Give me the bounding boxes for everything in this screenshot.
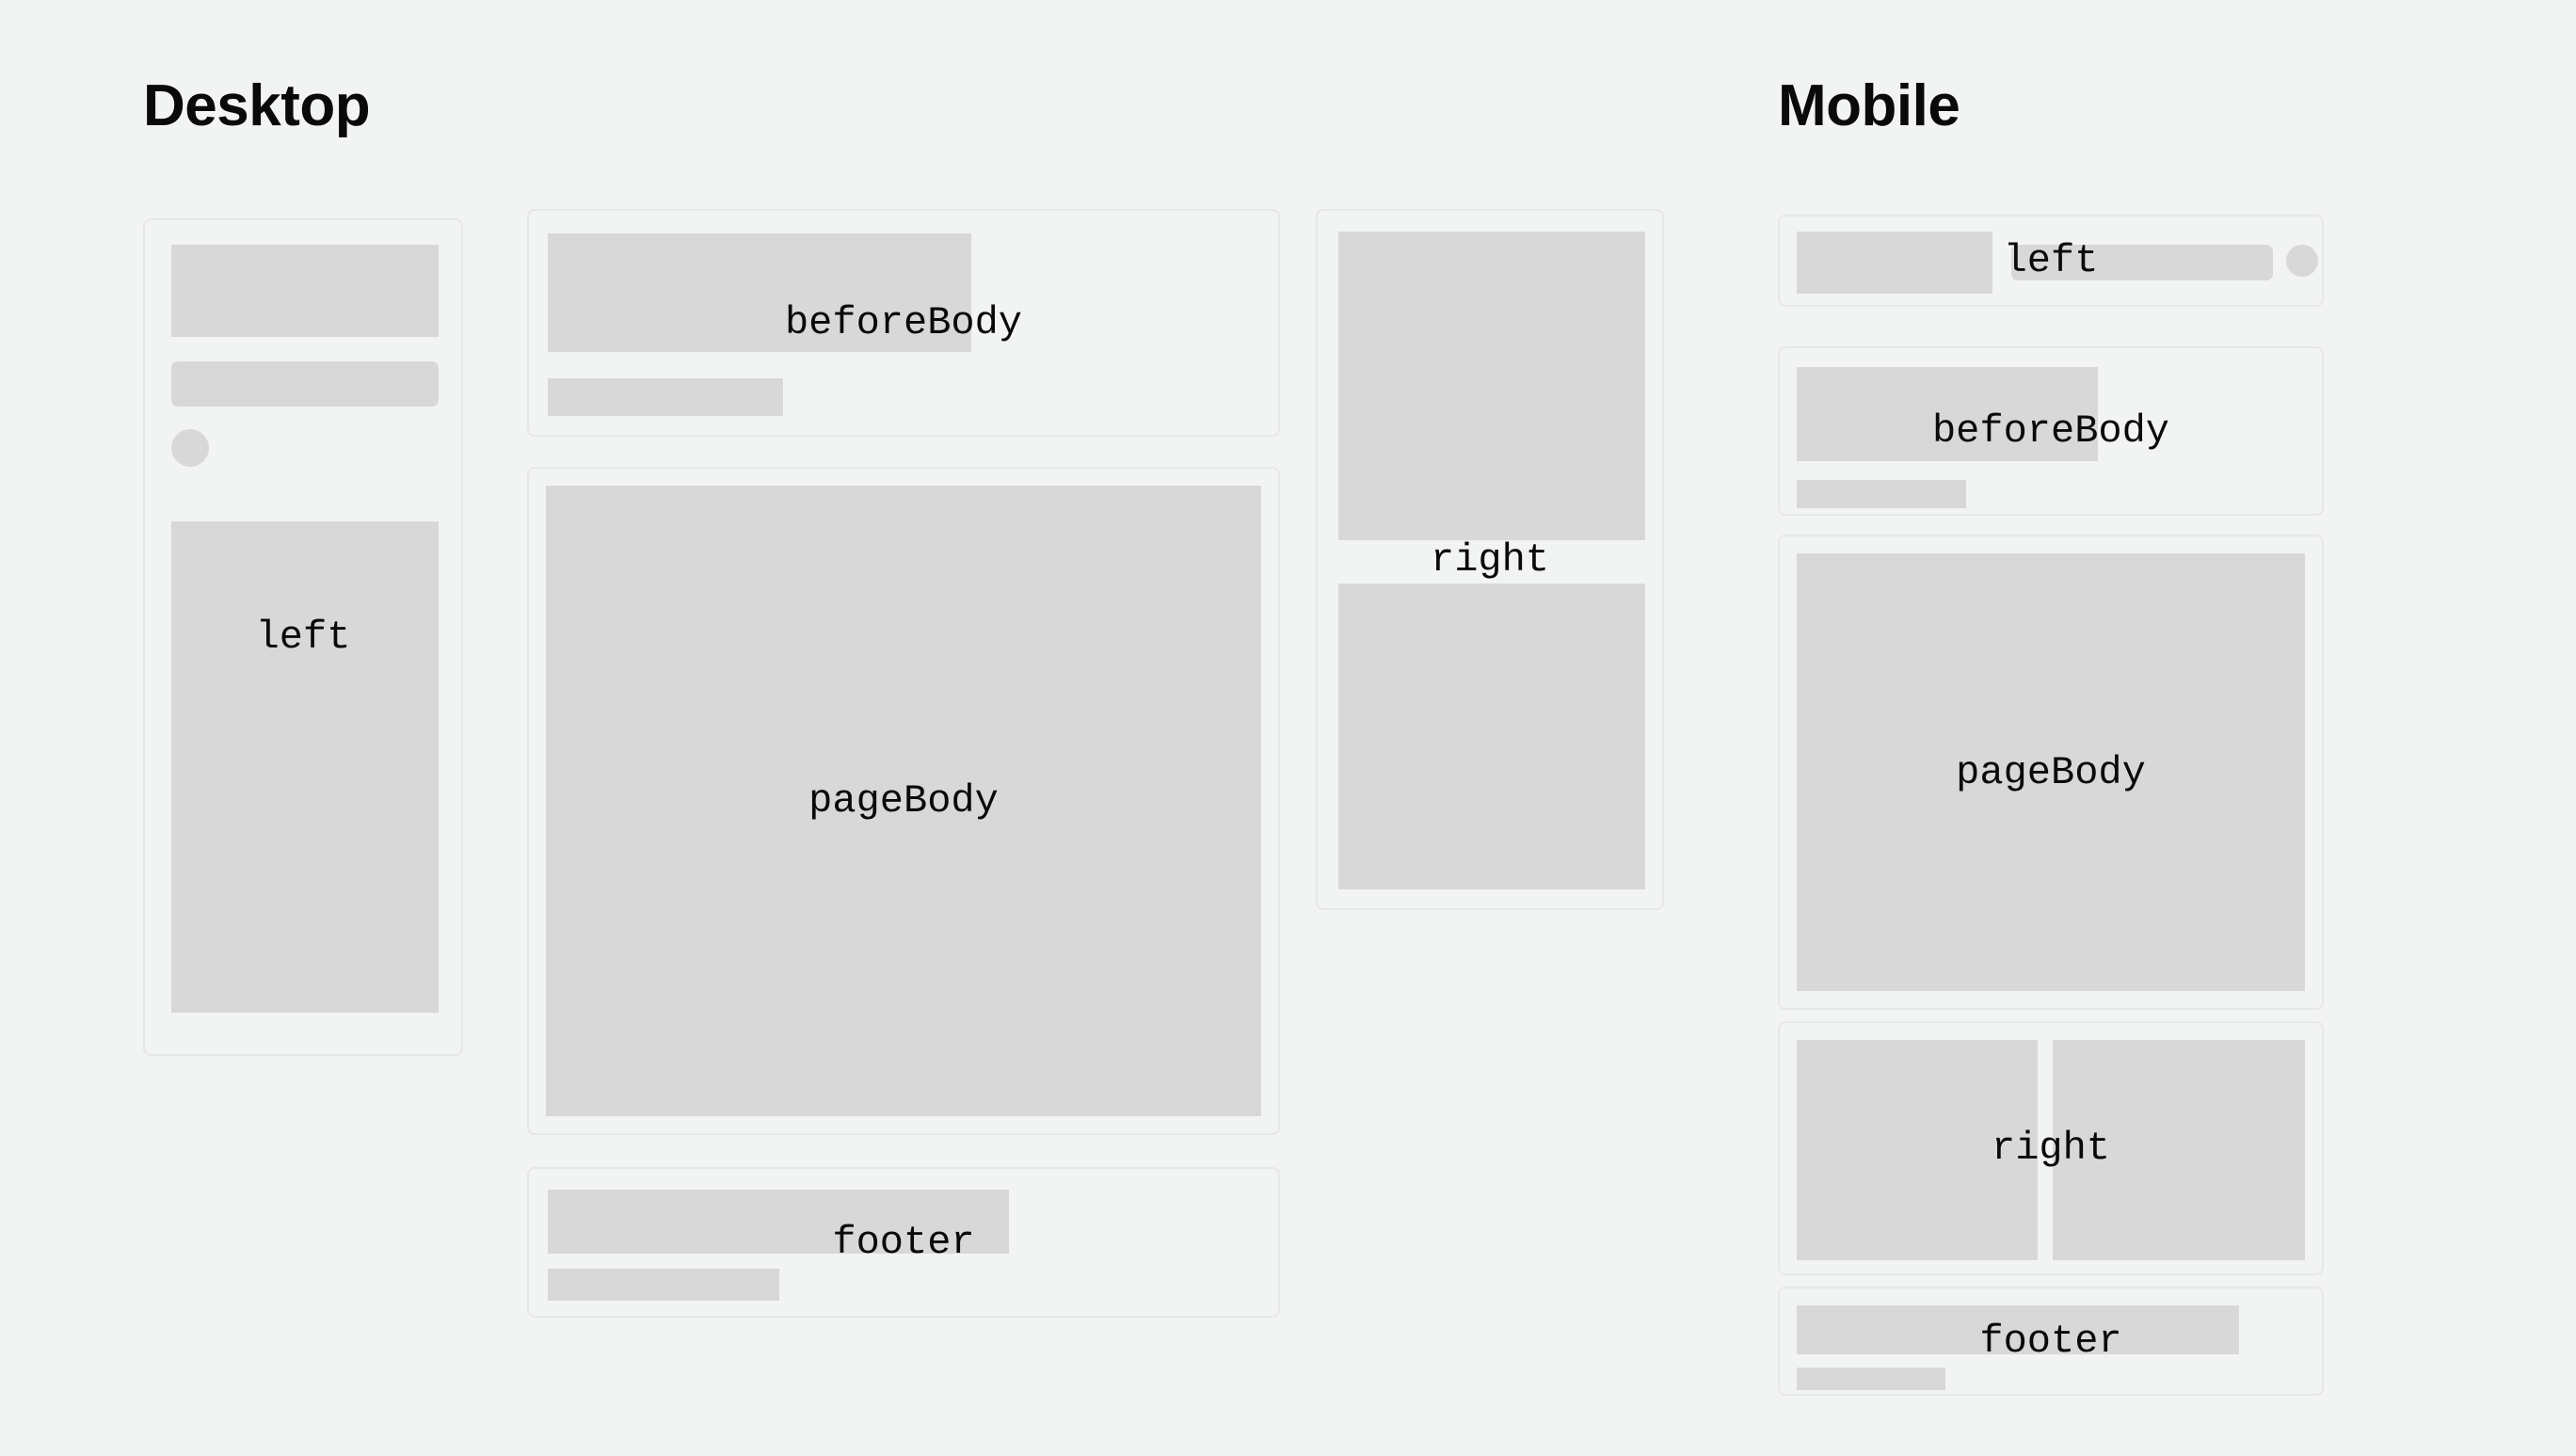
skeleton-upper-block	[1338, 232, 1645, 540]
skeleton-main-content-block	[546, 486, 1261, 1116]
skeleton-avatar-circle	[171, 429, 209, 467]
skeleton-wide-block	[548, 233, 971, 352]
mobile-pagebody-region-panel[interactable]	[1778, 535, 2324, 1010]
skeleton-lower-block	[1338, 584, 1645, 889]
skeleton-wide-block	[1797, 367, 2098, 461]
desktop-right-region-panel[interactable]	[1316, 209, 1664, 910]
desktop-beforebody-region-panel[interactable]	[527, 209, 1280, 437]
skeleton-header-block	[171, 245, 439, 337]
desktop-left-region-panel[interactable]	[143, 218, 463, 1056]
desktop-section-heading: Desktop	[143, 77, 370, 136]
skeleton-small-bar-block	[1797, 1368, 1945, 1390]
skeleton-wide-block	[1797, 1305, 2239, 1354]
skeleton-bar-block	[2011, 245, 2273, 280]
mobile-beforebody-region-panel[interactable]	[1778, 346, 2324, 516]
skeleton-header-block	[1797, 232, 1992, 294]
desktop-pagebody-region-panel[interactable]	[527, 467, 1280, 1135]
skeleton-small-bar-block	[548, 1269, 779, 1301]
skeleton-left-column-block	[1797, 1040, 2038, 1260]
desktop-footer-region-panel[interactable]	[527, 1167, 1280, 1318]
skeleton-right-column-block	[2053, 1040, 2305, 1260]
skeleton-main-content-block	[1797, 553, 2305, 991]
skeleton-small-bar-block	[1797, 480, 1966, 508]
layout-preview-canvas: Desktop left beforeBody pageBody footer …	[0, 0, 2576, 1456]
skeleton-bar-block	[171, 361, 439, 407]
skeleton-wide-block	[548, 1190, 1009, 1254]
mobile-section-heading: Mobile	[1778, 77, 1960, 136]
skeleton-small-bar-block	[548, 378, 783, 416]
skeleton-avatar-circle	[2286, 245, 2318, 277]
mobile-footer-region-panel[interactable]	[1778, 1287, 2324, 1396]
skeleton-content-block	[171, 521, 439, 1013]
mobile-right-region-panel[interactable]	[1778, 1021, 2324, 1275]
mobile-left-region-panel[interactable]	[1778, 215, 2324, 307]
